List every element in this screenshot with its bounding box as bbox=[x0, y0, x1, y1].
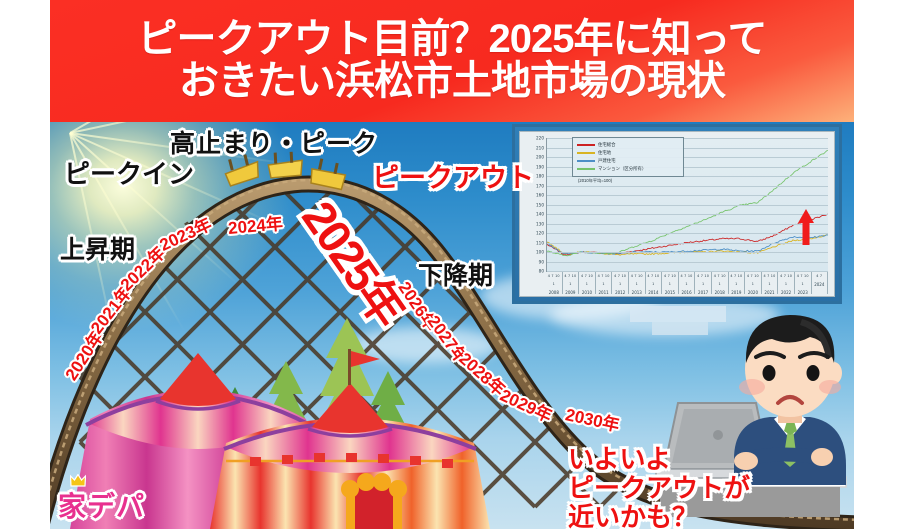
chart-x-group: 4 7 10 12013 bbox=[629, 272, 646, 294]
chart-legend-item: マンション（区分所有） bbox=[577, 165, 679, 173]
title-line-1: ピークアウト目前？2025年に知って bbox=[138, 19, 767, 61]
infographic-canvas: 8090100110120130140150160170180190200210… bbox=[0, 0, 904, 529]
chart-legend-swatch bbox=[577, 144, 595, 146]
chart-x-axis: 4 7 10 120084 7 10 120094 7 10 120104 7 … bbox=[546, 272, 828, 294]
chart-gridline bbox=[547, 252, 828, 253]
chart-y-tick: 90 bbox=[539, 259, 544, 264]
red-up-arrow-icon bbox=[798, 209, 814, 245]
chart-x-group: 4 7 10 12010 bbox=[579, 272, 596, 294]
land-price-index-chart: 8090100110120130140150160170180190200210… bbox=[519, 131, 835, 297]
chart-base-note: (2010年平均=100) bbox=[578, 178, 612, 184]
chart-x-quarter-ticks: 4 7 10 1 bbox=[729, 272, 745, 288]
callout-line-3: 近いかも？ bbox=[568, 503, 750, 529]
chart-gridline bbox=[547, 224, 828, 225]
chart-y-tick: 200 bbox=[536, 155, 544, 160]
crown-icon bbox=[70, 474, 86, 487]
chart-x-group: 4 7 10 12009 bbox=[563, 272, 580, 294]
chart-x-quarter-ticks: 4 7 10 1 bbox=[745, 272, 761, 288]
chart-legend-label: 住宅総合 bbox=[598, 142, 616, 148]
chart-y-tick: 130 bbox=[536, 221, 544, 226]
title-banner: ピークアウト目前？2025年に知って おきたい浜松市土地市場の現状 bbox=[50, 0, 854, 122]
chart-x-group: 4 7 10 12011 bbox=[596, 272, 613, 294]
chart-y-tick: 80 bbox=[539, 269, 544, 274]
chart-x-year-label: 2023 bbox=[795, 288, 811, 297]
site-logo[interactable]: 家デパ bbox=[58, 485, 145, 525]
chart-gridline bbox=[547, 243, 828, 244]
chart-x-year-label: 2008 bbox=[546, 288, 562, 297]
chart-x-group: 4 7 10 12019 bbox=[729, 272, 746, 294]
chart-x-quarter-ticks: 4 7 10 1 bbox=[762, 272, 778, 288]
chart-legend-label: マンション（区分所有） bbox=[598, 166, 646, 172]
chart-x-group: 4 7 10 12017 bbox=[695, 272, 712, 294]
chart-x-quarter-ticks: 4 7 10 1 bbox=[795, 272, 811, 288]
chart-legend-item: 戸建住宅 bbox=[577, 157, 679, 165]
chart-x-year-label: 2022 bbox=[778, 288, 794, 297]
chart-gridline bbox=[547, 214, 828, 215]
chart-x-year-label: 2019 bbox=[729, 288, 745, 297]
chart-x-group: 4 72024 bbox=[812, 272, 829, 294]
peak-out-callout: いよいよ ピークアウトが 近いかも？ bbox=[568, 445, 750, 529]
chart-x-quarter-ticks: 4 7 10 1 bbox=[695, 272, 711, 288]
chart-x-quarter-ticks: 4 7 10 1 bbox=[712, 272, 728, 288]
chart-x-quarter-ticks: 4 7 10 1 bbox=[629, 272, 645, 288]
title-line-2: おきたい浜松市土地市場の現状 bbox=[179, 61, 725, 103]
chart-x-group: 4 7 10 12022 bbox=[778, 272, 795, 294]
monitor-frame: 8090100110120130140150160170180190200210… bbox=[512, 124, 842, 304]
chart-y-tick: 120 bbox=[536, 231, 544, 236]
chart-x-year-label: 2015 bbox=[662, 288, 678, 297]
coaster-cars bbox=[220, 146, 370, 202]
chart-series-line bbox=[547, 214, 828, 255]
chart-x-group: 4 7 10 12023 bbox=[795, 272, 812, 294]
chart-x-group: 4 7 10 12021 bbox=[762, 272, 779, 294]
chart-gridline bbox=[547, 233, 828, 234]
chart-x-quarter-ticks: 4 7 10 1 bbox=[612, 272, 628, 288]
chart-x-year-label: 2018 bbox=[712, 288, 728, 297]
chart-x-quarter-ticks: 4 7 10 1 bbox=[579, 272, 595, 288]
chart-x-year-label: 2024 bbox=[812, 280, 828, 289]
chart-legend-swatch bbox=[577, 168, 595, 170]
chart-x-year-label: 2012 bbox=[612, 288, 628, 297]
chart-x-group: 4 7 10 12008 bbox=[546, 272, 563, 294]
chart-y-tick: 190 bbox=[536, 164, 544, 169]
chart-x-year-label: 2016 bbox=[679, 288, 695, 297]
chart-x-group: 4 7 10 12012 bbox=[612, 272, 629, 294]
callout-line-1: いよいよ bbox=[568, 445, 750, 474]
chart-gridline bbox=[547, 262, 828, 263]
chart-legend-label: 戸建住宅 bbox=[598, 158, 616, 164]
chart-x-year-label: 2017 bbox=[695, 288, 711, 297]
chart-x-group: 4 7 10 12018 bbox=[712, 272, 729, 294]
chart-x-year-label: 2010 bbox=[579, 288, 595, 297]
chart-x-year-label: 2013 bbox=[629, 288, 645, 297]
chart-x-quarter-ticks: 4 7 10 1 bbox=[646, 272, 662, 288]
chart-y-tick: 220 bbox=[536, 136, 544, 141]
chart-x-quarter-ticks: 4 7 10 1 bbox=[662, 272, 678, 288]
chart-x-year-label: 2009 bbox=[563, 288, 579, 297]
chart-legend-item: 住宅総合 bbox=[577, 141, 679, 149]
chart-y-tick: 160 bbox=[536, 193, 544, 198]
chart-x-quarter-ticks: 4 7 10 1 bbox=[596, 272, 612, 288]
chart-y-tick: 180 bbox=[536, 174, 544, 179]
scene-background: 8090100110120130140150160170180190200210… bbox=[50, 122, 854, 529]
chart-x-quarter-ticks: 4 7 10 1 bbox=[563, 272, 579, 288]
chart-x-group: 4 7 10 12016 bbox=[679, 272, 696, 294]
chart-y-tick: 140 bbox=[536, 212, 544, 217]
chart-x-quarter-ticks: 4 7 10 1 bbox=[546, 272, 562, 288]
chart-x-year-label: 2014 bbox=[646, 288, 662, 297]
chart-legend-item: 住宅地 bbox=[577, 149, 679, 157]
chart-x-year-label: 2011 bbox=[596, 288, 612, 297]
chart-x-quarter-ticks: 4 7 bbox=[812, 272, 828, 280]
chart-legend-swatch bbox=[577, 152, 595, 154]
site-logo-text: 家デパ bbox=[58, 491, 145, 522]
chart-x-quarter-ticks: 4 7 10 1 bbox=[679, 272, 695, 288]
chart-y-tick: 150 bbox=[536, 202, 544, 207]
chart-x-year-label: 2020 bbox=[745, 288, 761, 297]
chart-y-tick: 170 bbox=[536, 183, 544, 188]
chart-x-group: 4 7 10 12015 bbox=[662, 272, 679, 294]
chart-legend-swatch bbox=[577, 160, 595, 162]
chart-x-year-label: 2021 bbox=[762, 288, 778, 297]
chart-y-tick: 100 bbox=[536, 250, 544, 255]
chart-y-tick: 210 bbox=[536, 145, 544, 150]
callout-line-2: ピークアウトが bbox=[568, 474, 750, 503]
chart-x-group: 4 7 10 12014 bbox=[646, 272, 663, 294]
chart-legend-label: 住宅地 bbox=[598, 150, 611, 156]
chart-x-quarter-ticks: 4 7 10 1 bbox=[778, 272, 794, 288]
chart-gridline bbox=[547, 205, 828, 206]
chart-gridline bbox=[547, 195, 828, 196]
chart-legend: 住宅総合住宅地戸建住宅マンション（区分所有） bbox=[572, 137, 684, 177]
chart-y-tick: 110 bbox=[536, 240, 544, 245]
chart-gridline bbox=[547, 186, 828, 187]
chart-x-group: 4 7 10 12020 bbox=[745, 272, 762, 294]
